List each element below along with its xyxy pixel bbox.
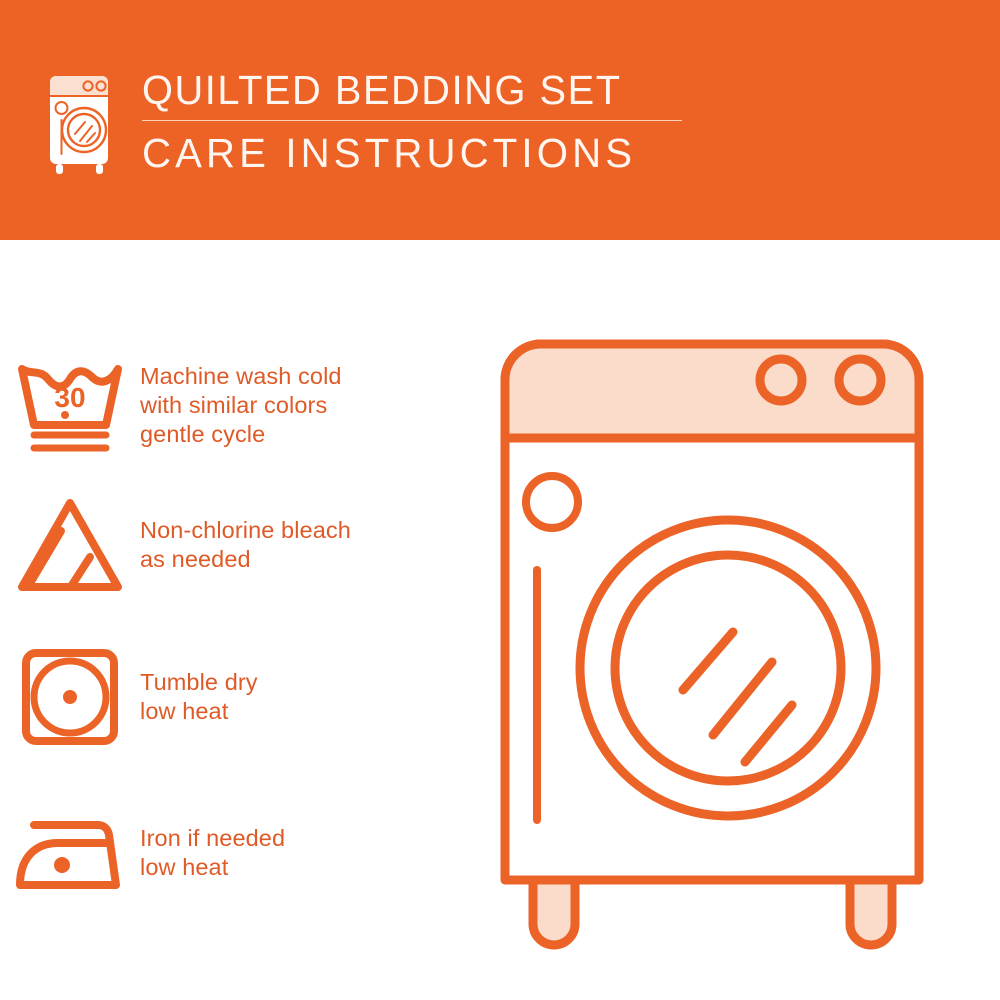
leg-right xyxy=(850,880,892,945)
leg-left xyxy=(533,880,575,945)
washing-machine-icon xyxy=(44,72,116,176)
machine-wash-30-gentle-icon: 30 xyxy=(0,340,140,470)
page-title: QUILTED BEDDING SET xyxy=(142,66,724,114)
care-item-label: Iron if needed low heat xyxy=(140,824,285,882)
care-item-machine-wash: 30 Machine wash cold with similar colors… xyxy=(0,340,480,470)
care-instruction-list: 30 Machine wash cold with similar colors… xyxy=(0,240,480,1000)
washing-machine-illustration xyxy=(480,320,980,960)
non-chlorine-bleach-triangle-icon xyxy=(0,480,140,610)
care-item-label: Non-chlorine bleach as needed xyxy=(140,516,351,574)
care-item-label: Tumble dry low heat xyxy=(140,668,258,726)
care-instructions-page: QUILTED BEDDING SET CARE INSTRUCTIONS 30 xyxy=(0,0,1000,1000)
title-divider xyxy=(142,120,682,121)
page-subtitle: CARE INSTRUCTIONS xyxy=(142,129,730,177)
care-item-iron: Iron if needed low heat xyxy=(0,788,480,918)
tumble-dry-low-heat-icon xyxy=(0,632,140,762)
care-item-tumble-dry: Tumble dry low heat xyxy=(0,632,480,762)
header-title-block: QUILTED BEDDING SET CARE INSTRUCTIONS xyxy=(142,66,742,177)
care-item-label: Machine wash cold with similar colors ge… xyxy=(140,362,342,449)
care-item-bleach: Non-chlorine bleach as needed xyxy=(0,480,480,610)
iron-low-heat-icon xyxy=(0,788,140,918)
header-banner: QUILTED BEDDING SET CARE INSTRUCTIONS xyxy=(0,0,1000,240)
wash-temperature-label: 30 xyxy=(54,382,85,413)
